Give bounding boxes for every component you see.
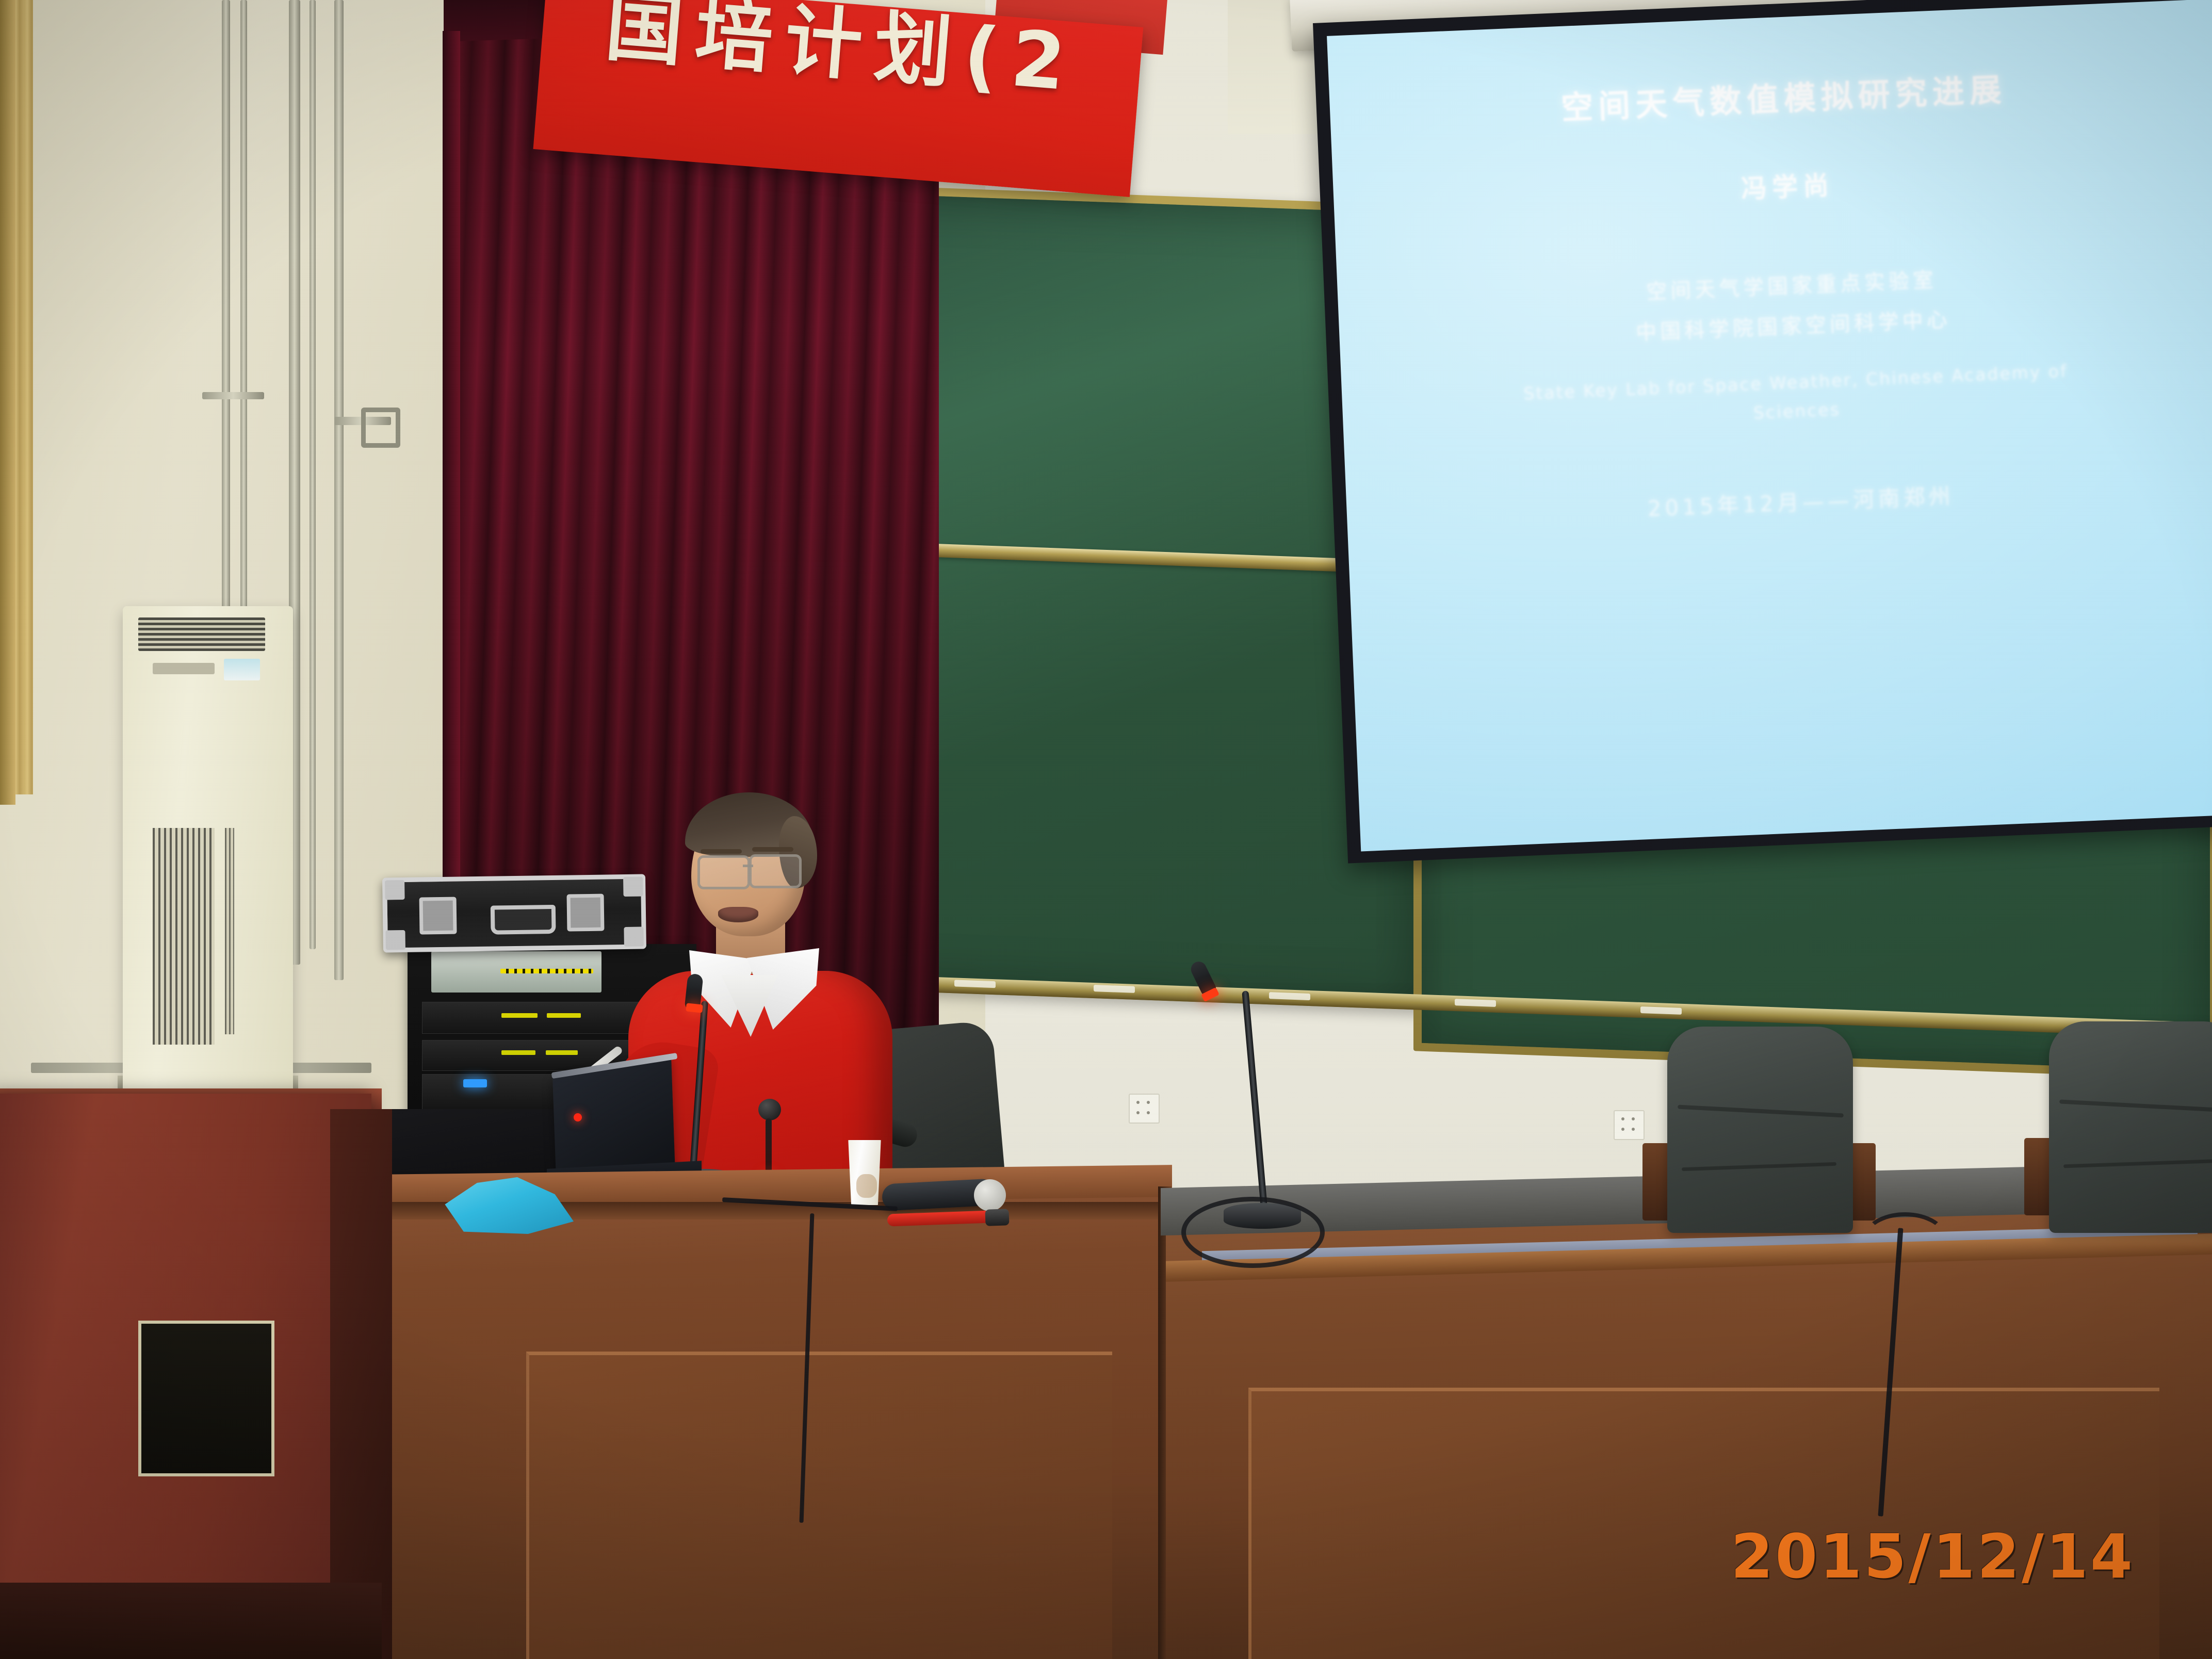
slide-date-line: 2015年12月——河南郑州 <box>1647 479 1954 523</box>
presenter-eyebrow-left <box>701 849 742 854</box>
flight-case-corner <box>385 930 405 950</box>
slide-title: 空间天气数值模拟研究进展 <box>1560 63 2007 128</box>
projection-screen-surface: 空间天气数值模拟研究进展 冯学尚 空间天气学国家重点实验室 中国科学院国家空间科… <box>1327 0 2212 852</box>
wall-conduit-pipe <box>310 0 316 949</box>
projection-screen: 空间天气数值模拟研究进展 冯学尚 空间天气学国家重点实验室 中国科学院国家空间科… <box>1313 0 2212 864</box>
handheld-microphone-head <box>974 1179 1006 1211</box>
photo-canvas: 空间天气数值模拟研究进展 冯学尚 空间天气学国家重点实验室 中国科学院国家空间科… <box>0 0 2212 1659</box>
lectern-base <box>0 1583 382 1659</box>
slide-affiliation-en-2: Sciences <box>1752 393 1841 430</box>
wall-outlet[interactable] <box>1614 1110 1645 1140</box>
chair-backrest <box>1667 1027 1853 1233</box>
air-conditioner-grille <box>138 617 265 651</box>
gooseneck-mic-led-left <box>686 1003 703 1013</box>
air-conditioner-vent-secondary <box>225 828 234 1034</box>
wall-conduit-pipe <box>334 0 344 980</box>
presenter-eyebrow-right <box>752 847 793 852</box>
presenter-glasses-left-lens <box>697 855 750 889</box>
presenter-microphone-capsule <box>758 1099 781 1120</box>
paper-cup-stain <box>856 1174 877 1198</box>
av-rack-led-bar <box>500 969 593 973</box>
av-rack-led <box>501 1050 535 1055</box>
conference-chair-2[interactable] <box>2037 1021 2212 1243</box>
presenter-mouth <box>718 907 758 922</box>
presentation-slide: 空间天气数值模拟研究进展 冯学尚 空间天气学国家重点实验室 中国科学院国家空间科… <box>1327 0 2212 852</box>
av-rack-led <box>546 1050 578 1055</box>
slide-author: 冯学尚 <box>1741 165 1835 205</box>
event-banner-text: 国培计划(2 <box>603 0 1081 103</box>
chair-backrest <box>2049 1021 2212 1233</box>
wall-hook <box>361 408 400 448</box>
lectern-cable-slot <box>138 1321 274 1476</box>
air-conditioner <box>123 606 293 1091</box>
side-curtain-gold-edge <box>0 0 15 805</box>
camera-date-stamp: 2015/12/14 <box>1731 1521 2135 1592</box>
air-conditioner-vent <box>153 828 215 1045</box>
av-rack-led <box>501 1013 538 1018</box>
presenter-glasses-bridge <box>743 865 753 867</box>
av-rack-led <box>547 1013 581 1018</box>
av-rack-power-led <box>463 1079 487 1087</box>
flight-case-latch[interactable] <box>419 897 457 935</box>
wall-outlet[interactable] <box>1129 1094 1160 1124</box>
flight-case-corner <box>385 880 405 900</box>
flight-case-handle[interactable] <box>491 905 556 935</box>
presenter-desk-front-panel <box>526 1352 1112 1659</box>
conference-chair-1[interactable] <box>1655 1027 1872 1243</box>
air-conditioner-display-panel[interactable] <box>153 663 215 674</box>
laptop-power-led <box>574 1113 582 1121</box>
lectern-side-panel <box>330 1109 392 1659</box>
coiled-cable <box>1181 1197 1325 1268</box>
wall-bracket <box>202 392 264 399</box>
table-cable-loop <box>1862 1212 1948 1267</box>
presenter-glasses-right-lens <box>749 854 802 888</box>
red-pointer-cap <box>985 1209 1009 1226</box>
air-conditioner-brand-badge <box>224 659 260 680</box>
